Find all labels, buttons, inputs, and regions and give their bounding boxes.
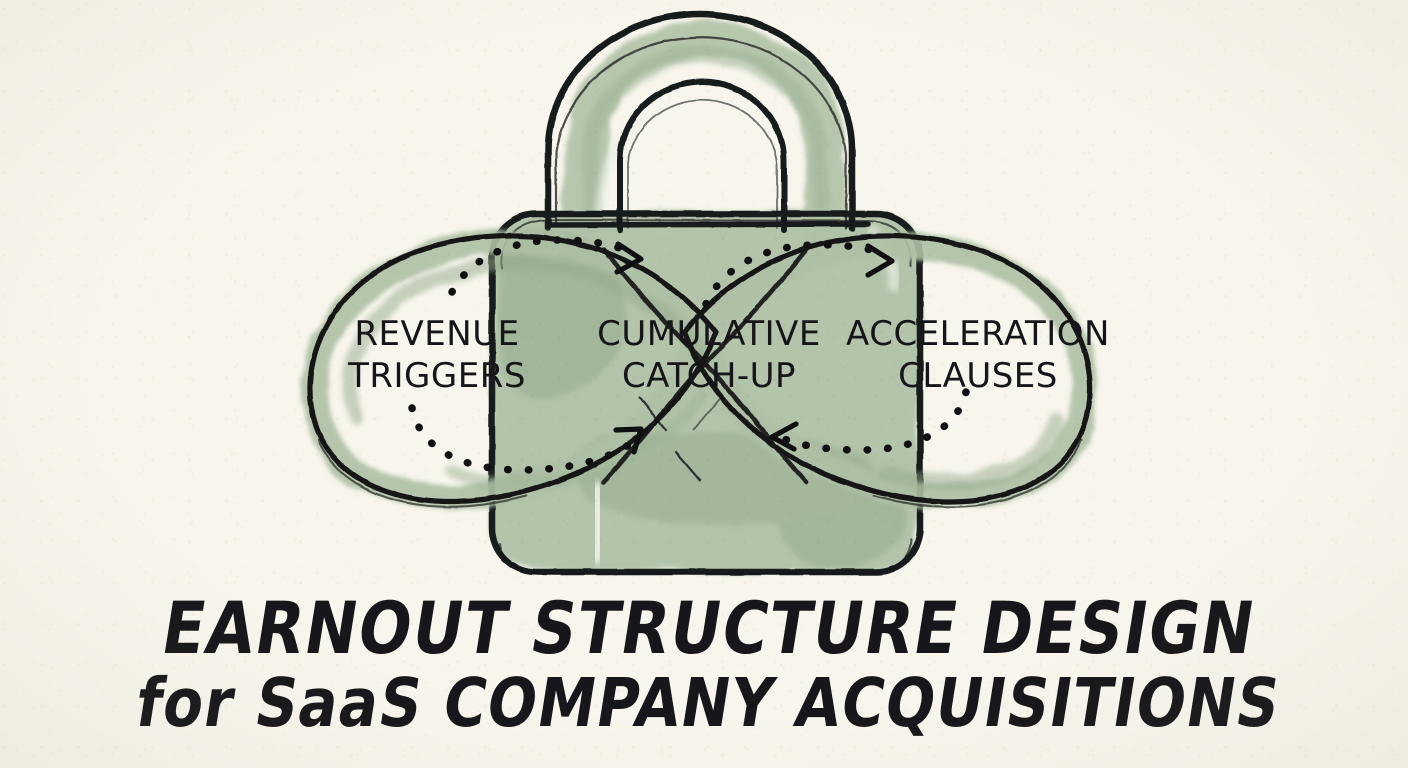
title-line-1: EARNOUT STRUCTURE DESIGN [156,586,1261,670]
title-line-2: for SaaS COMPANY ACQUISITIONS [131,663,1286,742]
illustration-canvas: REVENUE TRIGGERS CUMULATIVE CATCH-UP ACC… [0,0,1408,768]
stage-line-2: CLAUSES [898,356,1058,396]
stage-line-1: REVENUE [354,314,519,354]
stage-line-1: ACCELERATION [846,314,1110,354]
padlock-infinity-illustration: REVENUE TRIGGERS CUMULATIVE CATCH-UP ACC… [0,0,1408,768]
lock-body-highlight-a [596,490,599,556]
title-block: EARNOUT STRUCTURE DESIGN for SaaS COMPAN… [131,586,1286,742]
stage-line-2: TRIGGERS [347,356,526,396]
stage-line-2: CATCH-UP [622,356,796,396]
stage-line-1: CUMULATIVE [597,314,821,354]
